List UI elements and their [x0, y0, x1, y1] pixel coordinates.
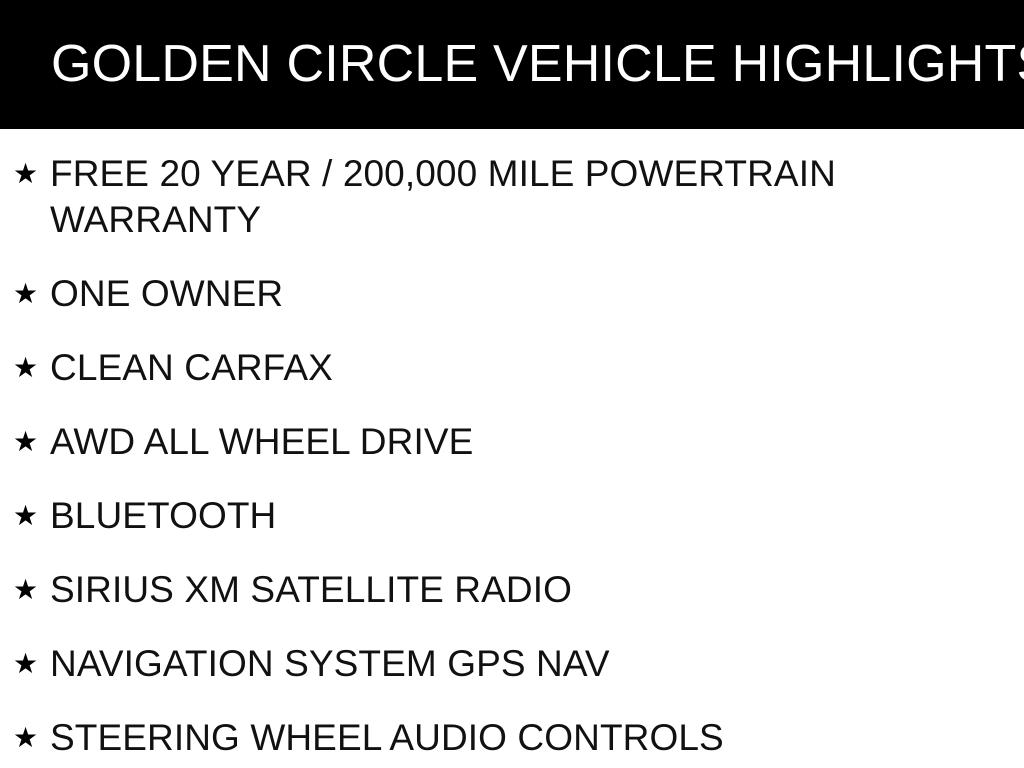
list-item: ★ NAVIGATION SYSTEM GPS NAV [0, 641, 1024, 687]
list-item: ★ SIRIUS XM SATELLITE RADIO [0, 567, 1024, 613]
list-item: ★ AWD ALL WHEEL DRIVE [0, 419, 1024, 465]
star-icon: ★ [13, 151, 41, 197]
header-banner: GOLDEN CIRCLE VEHICLE HIGHLIGHTS [0, 0, 1024, 129]
star-icon: ★ [13, 493, 41, 539]
list-item-label: FREE 20 YEAR / 200,000 MILE POWERTRAIN W… [50, 151, 1004, 243]
list-item: ★ CLEAN CARFAX [0, 345, 1024, 391]
list-item-label: CLEAN CARFAX [50, 345, 1004, 391]
star-icon: ★ [13, 715, 41, 761]
list-item: ★ FREE 20 YEAR / 200,000 MILE POWERTRAIN… [0, 151, 1024, 243]
page-title: GOLDEN CIRCLE VEHICLE HIGHLIGHTS [0, 38, 1024, 90]
highlights-list: ★ FREE 20 YEAR / 200,000 MILE POWERTRAIN… [0, 129, 1024, 761]
list-item: ★ ONE OWNER [0, 271, 1024, 317]
list-item-label: STEERING WHEEL AUDIO CONTROLS [50, 715, 1004, 761]
list-item-label: SIRIUS XM SATELLITE RADIO [50, 567, 1004, 613]
list-item-label: NAVIGATION SYSTEM GPS NAV [50, 641, 1004, 687]
list-item: ★ BLUETOOTH [0, 493, 1024, 539]
list-item-label: ONE OWNER [50, 271, 1004, 317]
star-icon: ★ [13, 345, 41, 391]
vehicle-highlights-page: GOLDEN CIRCLE VEHICLE HIGHLIGHTS ★ FREE … [0, 0, 1024, 768]
list-item: ★ STEERING WHEEL AUDIO CONTROLS [0, 715, 1024, 761]
star-icon: ★ [13, 419, 41, 465]
star-icon: ★ [13, 271, 41, 317]
list-item-label: BLUETOOTH [50, 493, 1004, 539]
star-icon: ★ [13, 641, 41, 687]
list-item-label: AWD ALL WHEEL DRIVE [50, 419, 1004, 465]
star-icon: ★ [13, 567, 41, 613]
